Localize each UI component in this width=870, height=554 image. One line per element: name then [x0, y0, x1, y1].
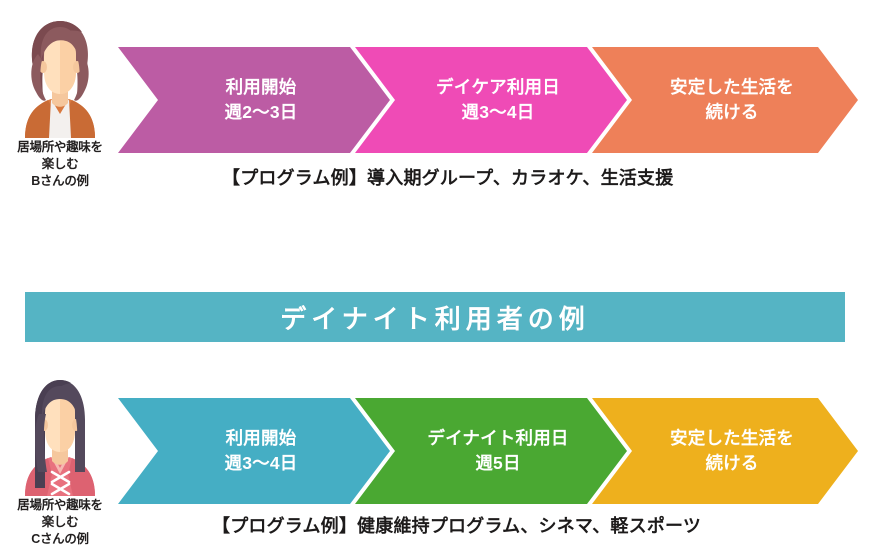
flow-step-label: 安定した生活を 続ける: [656, 426, 794, 477]
flow-step-c-3[interactable]: 安定した生活を 続ける: [592, 398, 858, 504]
flow-step-label: デイナイト利用日 週5日: [413, 426, 568, 477]
woman-avatar-b-icon: [11, 10, 109, 138]
flow-step-line: 続ける: [670, 100, 794, 125]
person-caption-c: 居場所や趣味を 楽しむ Cさんの例: [4, 497, 116, 548]
flow-step-line: デイケア利用日: [436, 75, 560, 100]
flow-step-line: 週3〜4日: [436, 100, 560, 125]
flow-step-label: 利用開始 週3〜4日: [211, 426, 298, 477]
section-banner-label: デイナイト利用者の例: [280, 299, 589, 336]
person-caption-line: Cさんの例: [4, 531, 116, 548]
person-caption-b: 居場所や趣味を 楽しむ Bさんの例: [4, 139, 116, 190]
flow-step-b-3[interactable]: 安定した生活を 続ける: [592, 47, 858, 153]
flow-band-b: 利用開始 週2〜3日 デイケア利用日 週3〜4日 安定した生活を 続ける: [118, 47, 858, 153]
flow-step-c-2[interactable]: デイナイト利用日 週5日: [355, 398, 627, 504]
flow-step-label: 利用開始 週2〜3日: [211, 75, 298, 126]
woman-avatar-c-icon: [11, 368, 109, 496]
person-block-b: 居場所や趣味を 楽しむ Bさんの例: [4, 10, 116, 190]
flow-step-label: デイケア利用日 週3〜4日: [422, 75, 560, 126]
flow-step-line: 安定した生活を: [670, 426, 794, 451]
infographic-canvas: 居場所や趣味を 楽しむ Bさんの例 利用開始 週2〜3日 デイケア利用日 週3〜…: [0, 0, 870, 554]
flow-step-line: 週2〜3日: [225, 100, 298, 125]
person-block-c: 居場所や趣味を 楽しむ Cさんの例: [4, 368, 116, 548]
flow-step-line: 利用開始: [225, 75, 298, 100]
flow-step-label: 安定した生活を 続ける: [656, 75, 794, 126]
flow-band-c: 利用開始 週3〜4日 デイナイト利用日 週5日 安定した生活を 続ける: [118, 398, 858, 504]
person-caption-line: 楽しむ: [4, 156, 116, 173]
person-caption-line: 居場所や趣味を: [4, 497, 116, 514]
flow-step-line: デイナイト利用日: [427, 426, 568, 451]
person-caption-line: 居場所や趣味を: [4, 139, 116, 156]
program-example-c: 【プログラム例】健康維持プログラム、シネマ、軽スポーツ: [212, 512, 701, 538]
person-caption-line: 楽しむ: [4, 514, 116, 531]
flow-step-line: 週5日: [427, 451, 568, 476]
flow-step-c-1[interactable]: 利用開始 週3〜4日: [118, 398, 390, 504]
flow-step-line: 安定した生活を: [670, 75, 794, 100]
flow-step-line: 続ける: [670, 451, 794, 476]
flow-step-b-2[interactable]: デイケア利用日 週3〜4日: [355, 47, 627, 153]
section-banner: デイナイト利用者の例: [25, 292, 845, 342]
flow-step-b-1[interactable]: 利用開始 週2〜3日: [118, 47, 390, 153]
program-example-b: 【プログラム例】導入期グループ、カラオケ、生活支援: [222, 164, 673, 190]
person-caption-line: Bさんの例: [4, 173, 116, 190]
flow-step-line: 週3〜4日: [225, 451, 298, 476]
flow-step-line: 利用開始: [225, 426, 298, 451]
